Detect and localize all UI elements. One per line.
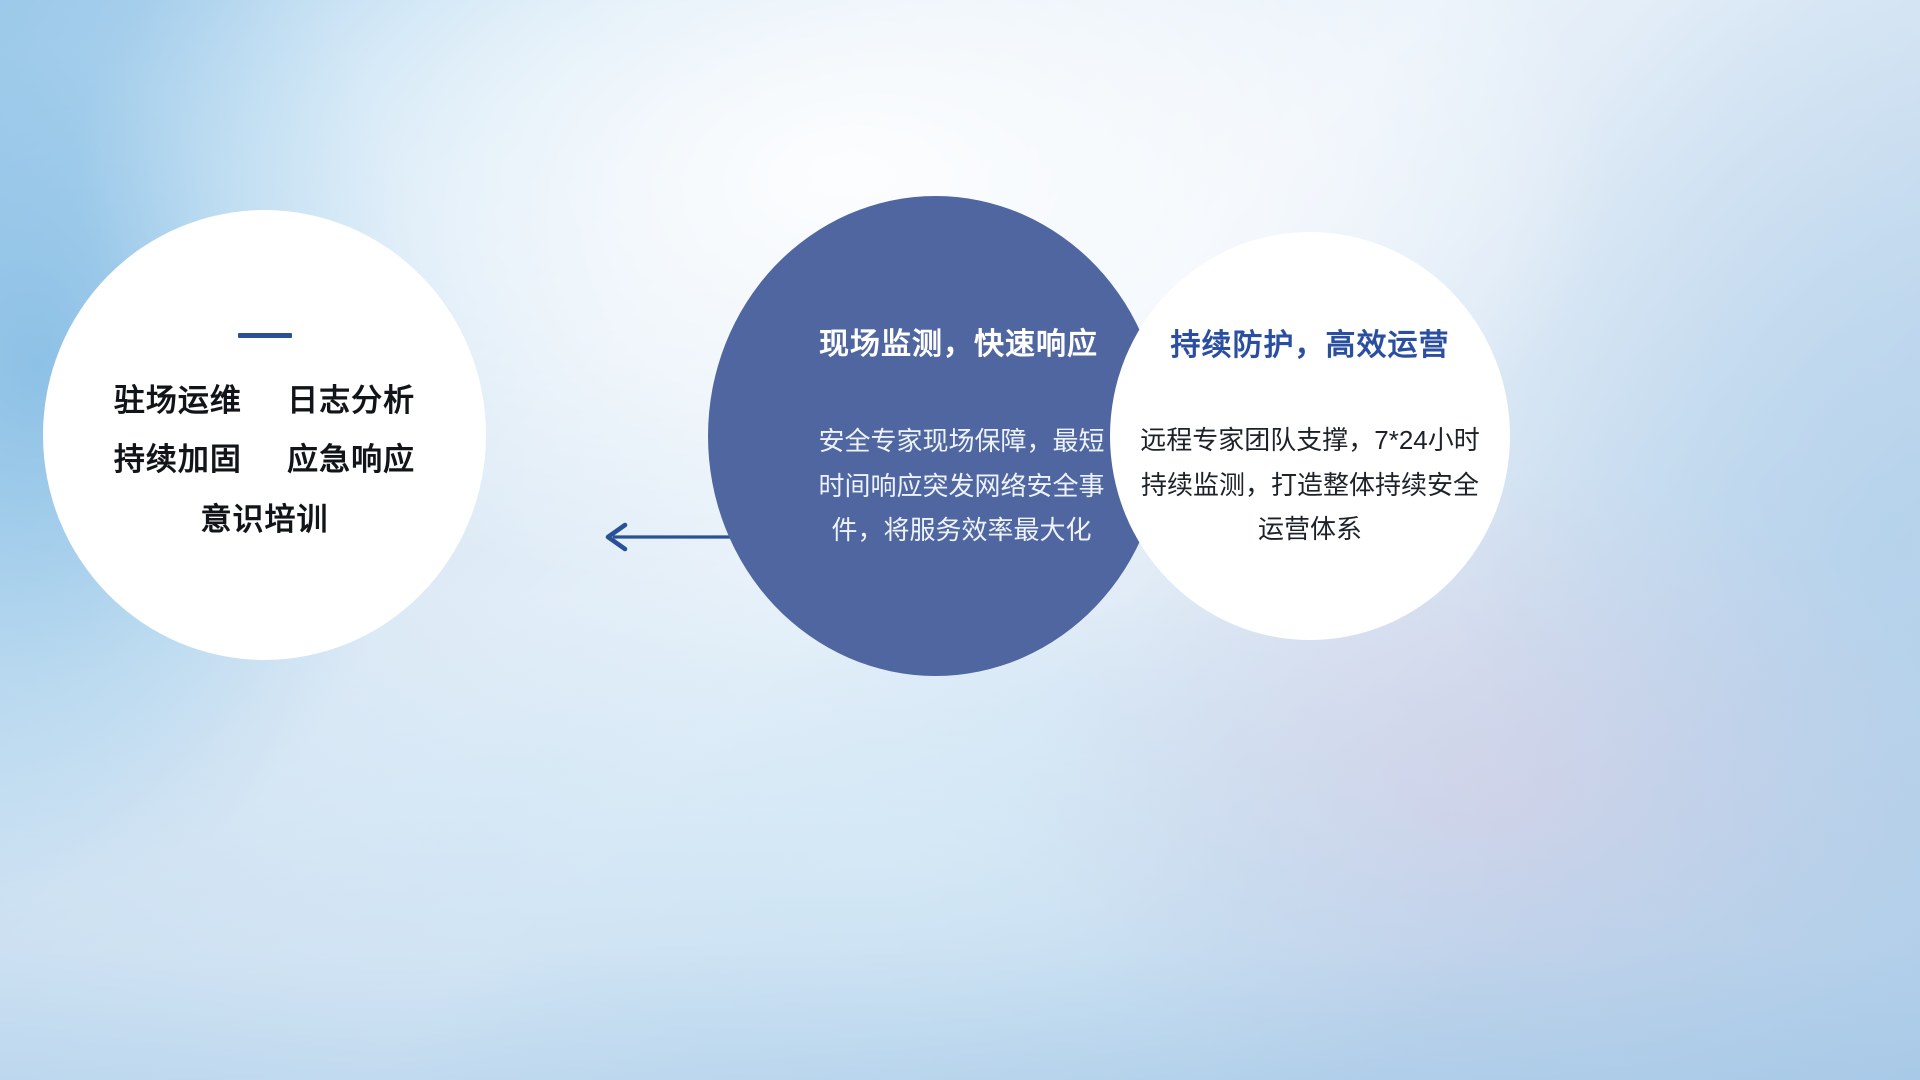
capability-row: 持续加固 应急响应: [114, 443, 415, 477]
arrow-connector-icon: [595, 505, 735, 569]
capability-item: 应急响应: [287, 442, 415, 477]
service-circle-right[interactable]: 持续防护，高效运营 远程专家团队支撑，7*24小时持续监测，打造整体持续安全运营…: [1110, 232, 1510, 640]
middle-circle-body: 安全专家现场保障，最短时间响应突发网络安全事件，将服务效率最大化: [812, 419, 1112, 553]
right-circle-body: 远程专家团队支撑，7*24小时持续监测，打造整体持续安全运营体系: [1136, 418, 1484, 552]
slide-canvas: 驻场运维 日志分析 持续加固 应急响应 意识培训 现场监测，快速响应 安全专家现…: [0, 0, 1920, 1080]
capability-item: 日志分析: [287, 383, 415, 418]
middle-circle-title: 现场监测，快速响应: [819, 319, 1098, 363]
capability-item: 意识培训: [201, 502, 329, 537]
capability-row: 驻场运维 日志分析: [114, 384, 415, 418]
service-circle-middle[interactable]: 现场监测，快速响应 安全专家现场保障，最短时间响应突发网络安全事件，将服务效率最…: [708, 196, 1163, 676]
right-circle-title: 持续防护，高效运营: [1171, 320, 1450, 364]
capability-circle-left[interactable]: 驻场运维 日志分析 持续加固 应急响应 意识培训: [43, 210, 486, 660]
divider-dash-icon: [238, 333, 292, 338]
capability-list: 驻场运维 日志分析 持续加固 应急响应 意识培训: [114, 384, 415, 536]
capability-item: 驻场运维: [114, 383, 242, 418]
capability-item: 持续加固: [114, 442, 242, 477]
capability-row: 意识培训: [201, 503, 329, 537]
